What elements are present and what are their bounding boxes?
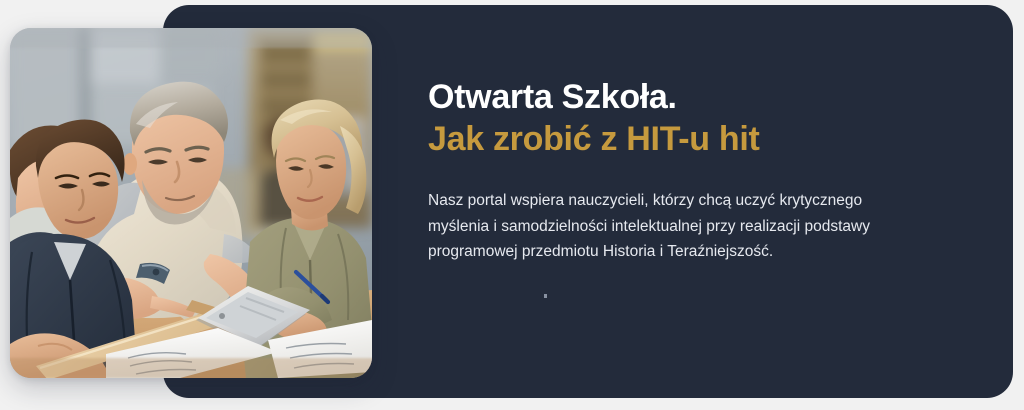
page-title-line-1: Otwarta Szkoła. [428, 76, 948, 118]
hero-description-line-3: programowej przedmiotu Historia i Teraźn… [428, 239, 928, 265]
page-title-line-2: Jak zrobić z HIT-u hit [428, 118, 948, 160]
stray-pixel-artifact [544, 294, 547, 298]
hero-description-line-1: Nasz portal wspiera nauczycieli, którzy … [428, 188, 928, 214]
hero-description-line-2: myślenia i samodzielności intelektualnej… [428, 214, 928, 240]
hero-section: Otwarta Szkoła. Jak zrobić z HIT-u hit N… [0, 0, 1024, 410]
hero-description: Nasz portal wspiera nauczycieli, którzy … [428, 188, 928, 265]
hero-photo-card [10, 28, 372, 378]
classroom-photo [10, 28, 372, 378]
hero-text-block: Otwarta Szkoła. Jak zrobić z HIT-u hit N… [428, 76, 948, 265]
page-title: Otwarta Szkoła. Jak zrobić z HIT-u hit [428, 76, 948, 160]
